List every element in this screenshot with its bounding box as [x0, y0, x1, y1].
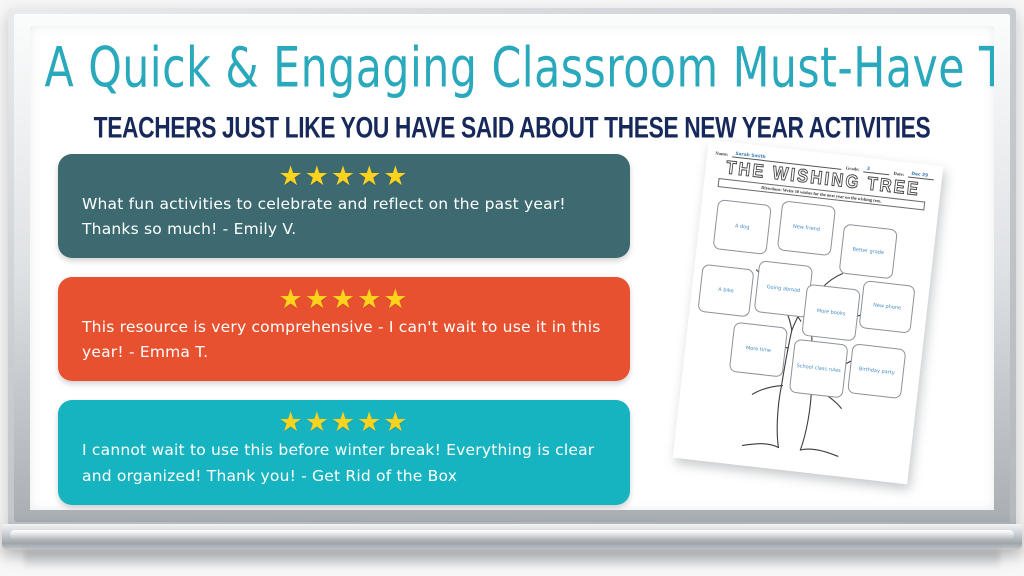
- tray-lip: [10, 530, 1014, 539]
- wish-box[interactable]: Better grade: [839, 224, 898, 280]
- testimonial-card[interactable]: ★★★★★ What fun activities to celebrate a…: [58, 154, 630, 258]
- wish-text: More time: [745, 345, 771, 355]
- slide-canvas: A Quick & Engaging Classroom Must-Have T…: [0, 0, 1024, 576]
- testimonial-card[interactable]: ★★★★★ This resource is very comprehensiv…: [58, 277, 630, 381]
- date-value: Dec 29: [911, 171, 928, 178]
- wish-box[interactable]: Birthday party: [847, 344, 906, 400]
- wish-box[interactable]: New phone: [858, 281, 915, 335]
- testimonial-text: I cannot wait to use this before winter …: [80, 438, 608, 488]
- testimonial-text: This resource is very comprehensive - I …: [80, 315, 608, 365]
- wish-box[interactable]: More time: [729, 322, 788, 378]
- wish-box[interactable]: A bike: [697, 264, 754, 318]
- testimonial-list: ★★★★★ What fun activities to celebrate a…: [58, 154, 638, 510]
- marker-tray: [2, 524, 1022, 550]
- wishing-tree-canvas: A dog New friend Better grade A bike Goi…: [682, 189, 930, 470]
- wish-box[interactable]: School class rules: [789, 339, 849, 399]
- wish-text: School class rules: [796, 363, 841, 375]
- wish-box[interactable]: A dog: [712, 199, 771, 255]
- tray-shadow: [24, 550, 1000, 570]
- wish-text: New phone: [873, 302, 902, 312]
- wish-text: Birthday party: [858, 366, 895, 377]
- worksheet-page: Name: Sarah Smith Grade: 3 Date: Dec 29: [673, 140, 944, 485]
- wish-text: Going abroad: [766, 284, 800, 295]
- wish-text: Better grade: [852, 246, 884, 257]
- testimonial-text: What fun activities to celebrate and ref…: [80, 192, 608, 242]
- wish-text: More books: [816, 308, 845, 318]
- star-rating-icon: ★★★★★: [80, 408, 608, 438]
- worksheet-preview[interactable]: Name: Sarah Smith Grade: 3 Date: Dec 29: [666, 138, 966, 498]
- testimonial-card[interactable]: ★★★★★ I cannot wait to use this before w…: [58, 400, 630, 504]
- star-rating-icon: ★★★★★: [80, 162, 608, 192]
- star-rating-icon: ★★★★★: [80, 285, 608, 315]
- wish-text: New friend: [793, 224, 821, 234]
- grade-value: 3: [867, 166, 871, 171]
- wish-text: A dog: [735, 223, 750, 232]
- wish-box[interactable]: New friend: [777, 201, 836, 257]
- whiteboard-frame: A Quick & Engaging Classroom Must-Have T…: [8, 8, 1016, 528]
- page-title: A Quick & Engaging Classroom Must-Have T…: [44, 40, 979, 98]
- whiteboard-surface: A Quick & Engaging Classroom Must-Have T…: [30, 26, 994, 510]
- wish-text: A bike: [718, 286, 734, 295]
- wish-box[interactable]: More books: [801, 284, 861, 342]
